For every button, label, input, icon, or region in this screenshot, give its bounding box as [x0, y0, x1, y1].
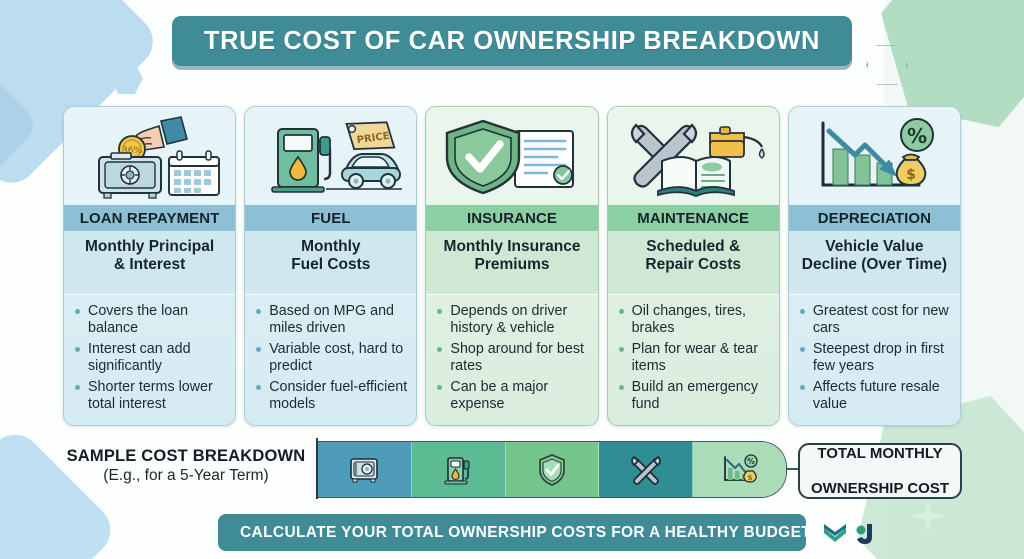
bar-segment-loan[interactable] — [318, 442, 412, 497]
card-header-band: DEPRECIATION — [789, 205, 960, 231]
card-illustration — [426, 107, 597, 205]
card-subtitle-line-1: Monthly Insurance — [432, 238, 591, 256]
decorative-hexagon-small — [110, 62, 143, 95]
page-title-banner: TRUE COST OF CAR OWNERSHIP BREAKDOWN — [172, 16, 852, 66]
shield-check-icon — [537, 453, 567, 487]
bar-segment-fuel[interactable] — [412, 442, 506, 497]
footer-cta-banner: CALCULATE YOUR TOTAL OWNERSHIP COSTS FOR… — [218, 514, 806, 551]
decorative-sparkle — [910, 498, 946, 534]
brand-logos — [822, 522, 882, 546]
chart-decline-moneybag-icon: % $ — [720, 454, 760, 486]
letter-j-logo — [855, 523, 873, 545]
list-item: Plan for wear & tear items — [618, 341, 771, 374]
wrench-oilcan-manual-icon — [618, 113, 768, 199]
card-subtitle: Vehicle Value Decline (Over Time) — [789, 231, 960, 295]
cost-proportion-bar: % $ — [316, 441, 786, 496]
svg-text:$: $ — [747, 474, 752, 482]
sample-label-line-2: (E.g., for a 5-Year Term) — [60, 467, 312, 485]
total-label-line-1: TOTAL MONTHLY — [811, 445, 949, 463]
card-header-band: INSURANCE — [426, 205, 597, 231]
card-illustration: 36% — [64, 107, 235, 205]
card-bullet-list: Greatest cost for new cars Steepest drop… — [789, 295, 960, 425]
card-subtitle-line-2: Repair Costs — [614, 256, 773, 274]
card-illustration — [608, 107, 779, 205]
safe-deposit-coin-icon: 36% — [75, 113, 225, 199]
card-header-label: MAINTENANCE — [637, 210, 749, 227]
card-subtitle-line-2: Premiums — [432, 256, 591, 274]
bar-segments: % $ — [318, 441, 787, 498]
card-loan-repayment[interactable]: 36% — [63, 106, 236, 426]
list-item: Can be a major expense — [436, 379, 589, 412]
card-maintenance[interactable]: MAINTENANCE Scheduled & Repair Costs Oil… — [607, 106, 780, 426]
card-subtitle: Scheduled & Repair Costs — [608, 231, 779, 295]
svg-text:$: $ — [907, 167, 917, 183]
list-item: Oil changes, tires, brakes — [618, 303, 771, 336]
fuel-pump-icon — [443, 454, 473, 486]
list-item: Build an emergency fund — [618, 379, 771, 412]
card-subtitle: Monthly Principal & Interest — [64, 231, 235, 295]
total-monthly-cost-badge: TOTAL MONTHLY OWNERSHIP COST — [798, 443, 962, 499]
decorative-hexagon-outline — [866, 44, 908, 86]
card-header-band: FUEL — [245, 205, 416, 231]
card-fuel[interactable]: PRICE — [244, 106, 417, 426]
sample-cost-breakdown-label: SAMPLE COST BREAKDOWN (E.g., for a 5-Yea… — [60, 447, 312, 485]
list-item: Covers the loan balance — [74, 303, 227, 336]
card-subtitle-line-1: Vehicle Value — [795, 238, 954, 256]
cost-category-cards: 36% — [63, 106, 961, 424]
card-header-label: DEPRECIATION — [818, 210, 931, 227]
card-header-label: LOAN REPAYMENT — [80, 210, 220, 227]
list-item: Interest can add significantly — [74, 341, 227, 374]
list-item: Depends on driver history & vehicle — [436, 303, 589, 336]
card-subtitle-line-2: Fuel Costs — [251, 256, 410, 274]
card-bullet-list: Oil changes, tires, brakes Plan for wear… — [608, 295, 779, 425]
svg-text:%: % — [907, 124, 927, 148]
card-subtitle: Monthly Fuel Costs — [245, 231, 416, 295]
decorative-square-top-left-2 — [0, 19, 41, 231]
page-title: TRUE COST OF CAR OWNERSHIP BREAKDOWN — [204, 27, 820, 56]
list-item: Consider fuel-efficient models — [255, 379, 408, 412]
declining-chart-moneybag-icon: % $ — [799, 113, 949, 199]
card-header-label: FUEL — [311, 210, 351, 227]
list-item: Steepest drop in first few years — [799, 341, 952, 374]
crossed-wrenches-icon — [629, 454, 663, 486]
card-header-label: INSURANCE — [467, 210, 557, 227]
list-item: Variable cost, hard to predict — [255, 341, 408, 374]
card-illustration: % $ — [789, 107, 960, 205]
card-header-band: MAINTENANCE — [608, 205, 779, 231]
card-subtitle: Monthly Insurance Premiums — [426, 231, 597, 295]
list-item: Shorter terms lower total interest — [74, 379, 227, 412]
infographic-canvas: TRUE COST OF CAR OWNERSHIP BREAKDOWN 36% — [0, 0, 1024, 559]
sample-label-line-1: SAMPLE COST BREAKDOWN — [60, 447, 312, 466]
decorative-square-bottom-left — [0, 424, 121, 559]
card-bullet-list: Depends on driver history & vehicle Shop… — [426, 295, 597, 425]
card-insurance[interactable]: INSURANCE Monthly Insurance Premiums Dep… — [425, 106, 598, 426]
card-subtitle-line-1: Scheduled & — [614, 238, 773, 256]
card-subtitle-line-1: Monthly Principal — [70, 238, 229, 256]
list-item: Shop around for best rates — [436, 341, 589, 374]
chevron-stack-logo — [822, 523, 848, 545]
bar-segment-insurance[interactable] — [506, 442, 600, 497]
card-subtitle-line-2: & Interest — [70, 256, 229, 274]
safe-icon — [347, 455, 381, 485]
list-item: Affects future resale value — [799, 379, 952, 412]
card-depreciation[interactable]: % $ DEPRECIATION Vehicle Value Decline (… — [788, 106, 961, 426]
card-bullet-list: Covers the loan balance Interest can add… — [64, 295, 235, 425]
fuel-pump-icon: PRICE — [256, 113, 406, 199]
list-item: Greatest cost for new cars — [799, 303, 952, 336]
list-item: Based on MPG and miles driven — [255, 303, 408, 336]
bar-segment-maintenance[interactable] — [599, 442, 693, 497]
footer-cta-text: CALCULATE YOUR TOTAL OWNERSHIP COSTS FOR… — [240, 524, 811, 542]
total-label-line-2: OWNERSHIP COST — [811, 480, 949, 498]
card-bullet-list: Based on MPG and miles driven Variable c… — [245, 295, 416, 425]
bar-segment-depreciation[interactable]: % $ — [693, 442, 786, 497]
shield-check-document-icon — [437, 113, 587, 199]
card-subtitle-line-1: Monthly — [251, 238, 410, 256]
card-subtitle-line-2: Decline (Over Time) — [795, 256, 954, 274]
svg-text:%: % — [747, 457, 755, 466]
card-illustration: PRICE — [245, 107, 416, 205]
card-header-band: LOAN REPAYMENT — [64, 205, 235, 231]
